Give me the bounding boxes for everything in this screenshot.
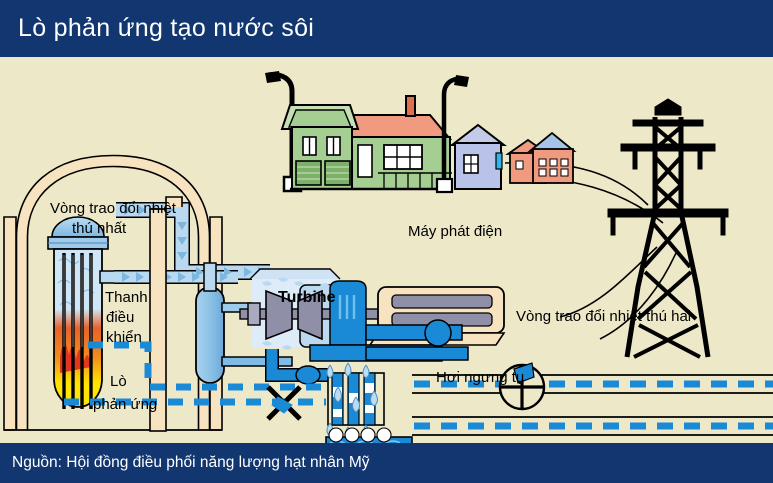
label-turbine: Turbine [278, 289, 336, 306]
label-generator: Máy phát điện [408, 223, 502, 240]
label-secondary-loop: Vòng trao đổi nhiệt thú hai [516, 308, 691, 325]
label-primary-loop-line2: thú nhất [72, 220, 127, 237]
label-condensate: Hơi ngưng tụ [436, 369, 524, 386]
label-primary-loop-line1: Vòng trao đổi nhiệt [50, 200, 177, 217]
footer-bar: Nguồn: Hội đồng điều phối năng lượng hạt… [0, 443, 773, 483]
label-control-rods-line1: Thanh [105, 289, 148, 306]
label-control-rods-line2: điều [106, 309, 134, 326]
label-reactor-line1: Lò [110, 373, 127, 390]
diagram-page: Lò phản ứng tạo nước sôi [0, 0, 773, 483]
header-bar: Lò phản ứng tạo nước sôi [0, 0, 773, 57]
diagram-canvas: Vòng trao đổi nhiệt thú nhất Thanh điều … [0, 57, 773, 443]
label-control-rods-line3: khiển [106, 329, 142, 346]
label-reactor-line2: phản ứng [93, 396, 157, 413]
page-title: Lò phản ứng tạo nước sôi [0, 14, 314, 43]
source-text: Nguồn: Hội đồng điều phối năng lượng hạt… [0, 454, 369, 472]
